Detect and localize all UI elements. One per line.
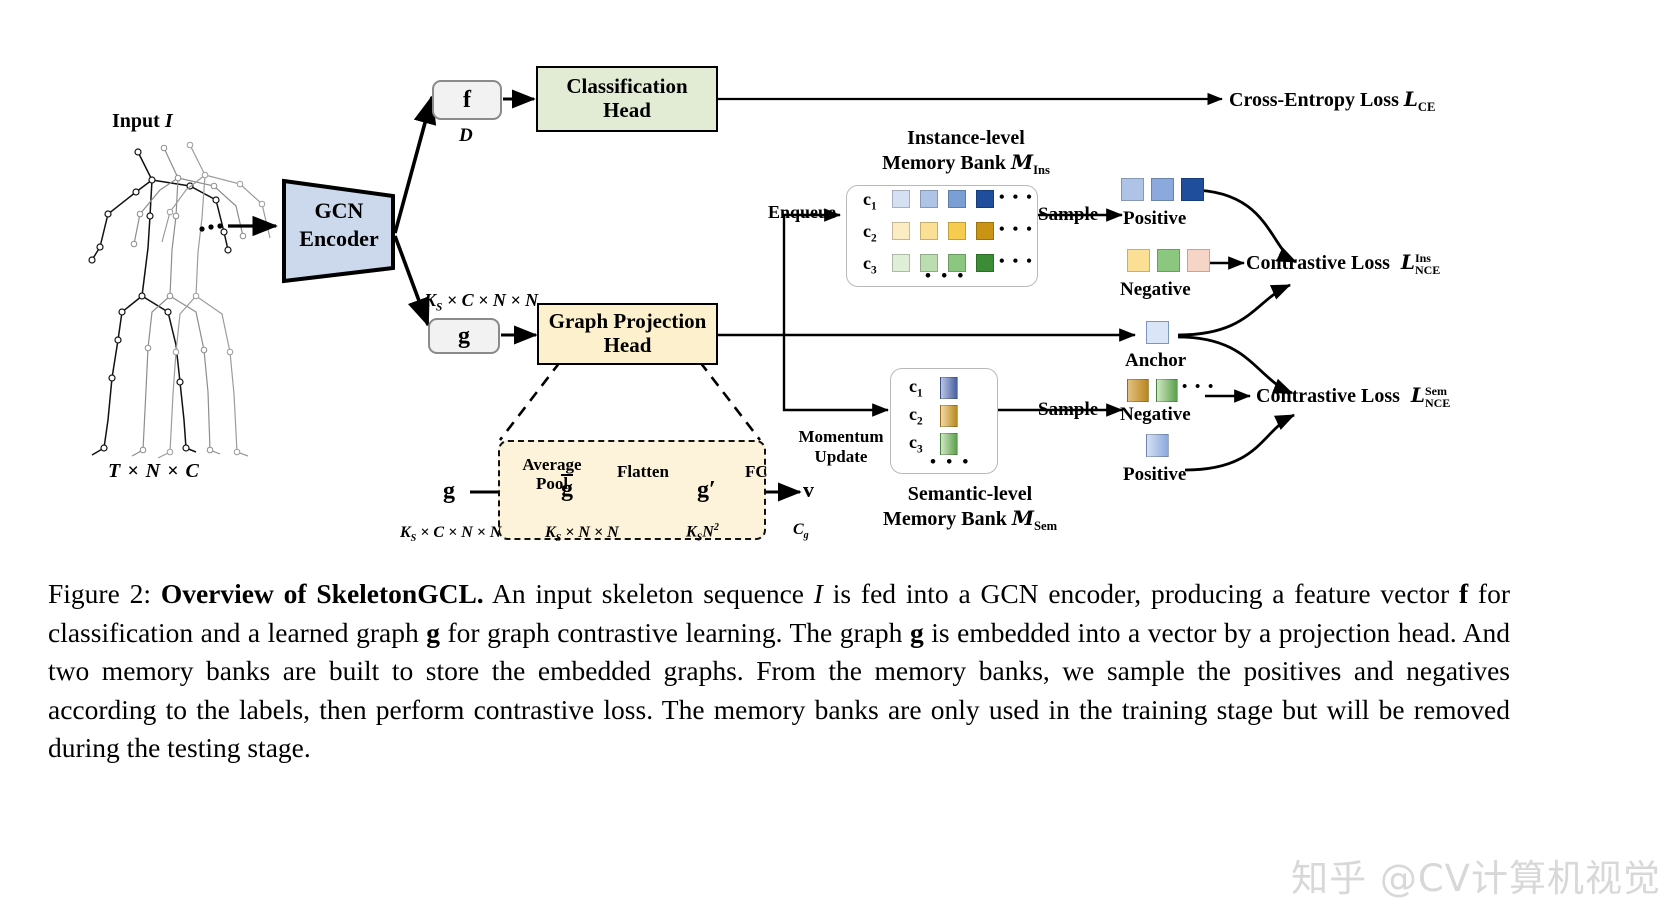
classification-head-line-1: Classification (566, 75, 687, 99)
momentum-line-1: Momentum (793, 427, 889, 447)
instance-negative-swatch-3 (1187, 249, 1210, 272)
instance-positive-label: Positive (1123, 208, 1186, 230)
momentum-update-label: Momentum Update (793, 427, 889, 467)
input-title: Input I (112, 110, 173, 133)
instance-swatch-c1-3 (948, 190, 966, 208)
instance-bank-title-line2: Memory Bank MIns (846, 150, 1086, 178)
caption-body-1: An input skeleton sequence (484, 578, 814, 609)
anchor-swatch (1146, 321, 1169, 344)
caption-symbol-g1: g (426, 617, 440, 648)
semantic-bank-row-label-3: c3 (909, 432, 923, 456)
arrow-encoder-to-f (395, 97, 432, 233)
detail-input-g: g (443, 478, 455, 505)
instance-bank-title-text: Memory Bank (882, 152, 1011, 174)
dashed-connector-right (700, 362, 760, 440)
semantic-bank-ellipsis: • • • (930, 452, 971, 472)
semantic-swatch-c2 (940, 405, 958, 427)
input-dimensions: T × N × C (108, 460, 200, 483)
instance-swatch-c1-4 (976, 190, 994, 208)
detail-gbar: g (561, 476, 573, 503)
instance-bank-row-label-2: c2 (863, 221, 877, 245)
detail-gprime-dim: KSN2 (686, 522, 719, 544)
encoder-line-1: GCN (286, 197, 392, 225)
skeleton-figure-2 (132, 148, 243, 456)
detail-vector-v: v (803, 477, 814, 503)
instance-swatch-c3-4 (976, 254, 994, 272)
instance-swatch-c3-1 (892, 254, 910, 272)
semantic-contrastive-loss-label: Contrastive Loss LSemNCE (1256, 383, 1450, 410)
detail-op1-line1: Average (505, 455, 599, 474)
graph-projection-line-1: Graph Projection (549, 310, 707, 334)
input-title-text: Input (112, 110, 165, 132)
graph-projection-line-2: Head (604, 334, 652, 358)
gcn-encoder-label: GCN Encoder (286, 197, 392, 252)
skeleton-figure-3 (158, 145, 270, 458)
figure-caption: Figure 2: Overview of SkeletonGCL. An in… (48, 575, 1510, 768)
instance-swatch-c2-1 (892, 222, 910, 240)
semantic-bank-title-line1: Semantic-level (872, 482, 1068, 506)
arrow-anchor-to-ins-loss (1178, 285, 1290, 335)
skeleton-joints-1 (89, 149, 231, 451)
skeleton-joints-3 (167, 142, 265, 455)
detail-op-average-pool: Average Pool (505, 455, 599, 493)
semantic-bank-title: Semantic-level Memory Bank MSem (872, 482, 1068, 535)
sem-loss-text: Contrastive Loss (1256, 385, 1405, 407)
semantic-bank-row-label-1: c1 (909, 376, 923, 400)
detail-op1-line2: Pool (505, 474, 599, 493)
classification-head-box[interactable]: Classification Head (536, 66, 718, 132)
ce-loss-text: Cross-Entropy Loss (1229, 89, 1404, 111)
sample-label-semantic: Sample (1038, 399, 1098, 421)
sample-label-instance: Sample (1038, 204, 1098, 226)
caption-symbol-f: f (1459, 578, 1468, 609)
dashed-connector-left (500, 362, 560, 440)
instance-contrastive-loss-label: Contrastive Loss LInsNCE (1246, 250, 1440, 277)
caption-number: Figure 2: (48, 578, 151, 609)
enqueue-label: Enqueue (768, 202, 836, 223)
caption-body-4: for graph contrastive learning. The grap… (440, 617, 910, 648)
semantic-positive-label: Positive (1123, 464, 1186, 486)
detail-gbar-dim: KS × N × N (545, 524, 619, 544)
caption-body-2: is fed into a GCN encoder, producing a f… (823, 578, 1459, 609)
detail-op-fc: FC (745, 462, 768, 482)
instance-negative-label: Negative (1120, 279, 1191, 301)
input-title-symbol: I (165, 110, 173, 132)
detail-input-dim: KS × C × N × N (400, 524, 501, 544)
semantic-bank-title-line2: Memory Bank MSem (872, 506, 1068, 534)
instance-swatch-c2-4 (976, 222, 994, 240)
feature-f-dimension: D (459, 125, 473, 147)
semantic-positive-swatch (1146, 434, 1169, 457)
semantic-negative-swatch-2 (1156, 379, 1178, 402)
semantic-bank-row-label-2: c2 (909, 404, 923, 428)
instance-row-3-ellipsis: • • • (999, 253, 1034, 271)
instance-bank-title-line1: Instance-level (846, 126, 1086, 150)
encoder-line-2: Encoder (286, 225, 392, 253)
instance-bank-row-label-1: c1 (863, 189, 877, 213)
arrow-sem-positive-to-loss (1185, 415, 1294, 470)
feature-g-pill[interactable]: g (428, 318, 500, 354)
instance-swatch-c2-3 (948, 222, 966, 240)
positive-swatch-2 (1151, 178, 1174, 201)
anchor-label: Anchor (1125, 350, 1186, 372)
instance-swatch-c1-2 (920, 190, 938, 208)
caption-symbol-I: I (814, 578, 823, 609)
classification-head-line-2: Head (603, 99, 651, 123)
momentum-line-2: Update (793, 447, 889, 467)
feature-f-pill[interactable]: f (432, 80, 502, 120)
semantic-negative-swatch-1 (1127, 379, 1149, 402)
positive-swatch-1 (1121, 178, 1144, 201)
instance-swatch-c2-2 (920, 222, 938, 240)
figure-diagram: Input I T × N × C GCN Encoder f D Classi… (0, 0, 1679, 560)
ins-loss-text: Contrastive Loss (1246, 252, 1395, 274)
instance-negative-swatch-1 (1127, 249, 1150, 272)
instance-bank-bottom-ellipsis: • • • (925, 266, 966, 286)
instance-swatch-c1-1 (892, 190, 910, 208)
semantic-negative-label: Negative (1120, 404, 1191, 426)
arrow-enqueue-to-instance-bank (784, 215, 840, 335)
cross-entropy-loss-label: Cross-Entropy Loss LCE (1229, 87, 1435, 115)
semantic-negative-ellipsis: • • • (1182, 379, 1215, 396)
positive-swatch-3 (1181, 178, 1204, 201)
skeleton-joints-2 (131, 145, 246, 453)
diagram-vector-layer (0, 0, 1679, 560)
arrow-momentum-to-semantic-bank (784, 335, 888, 410)
watermark: 知乎 @CV计算机视觉 (1291, 848, 1661, 902)
instance-bank-title: Instance-level Memory Bank MIns (846, 126, 1086, 179)
graph-g-dimension: KS × C × N × N (424, 290, 538, 314)
detail-vector-dim: Cg (793, 521, 809, 541)
semantic-bank-title-text: Memory Bank (883, 508, 1012, 530)
detail-op-flatten: Flatten (617, 462, 669, 482)
graph-projection-head-box[interactable]: Graph Projection Head (537, 303, 718, 365)
semantic-swatch-c1 (940, 377, 958, 399)
caption-title: Overview of SkeletonGCL. (161, 578, 484, 609)
instance-row-2-ellipsis: • • • (999, 221, 1034, 239)
sequence-ellipsis-dots (199, 223, 222, 231)
instance-bank-row-label-3: c3 (863, 253, 877, 277)
instance-row-1-ellipsis: • • • (999, 189, 1034, 207)
instance-negative-swatch-2 (1157, 249, 1180, 272)
caption-symbol-g2: g (910, 617, 924, 648)
detail-gprime: g′ (697, 477, 716, 504)
